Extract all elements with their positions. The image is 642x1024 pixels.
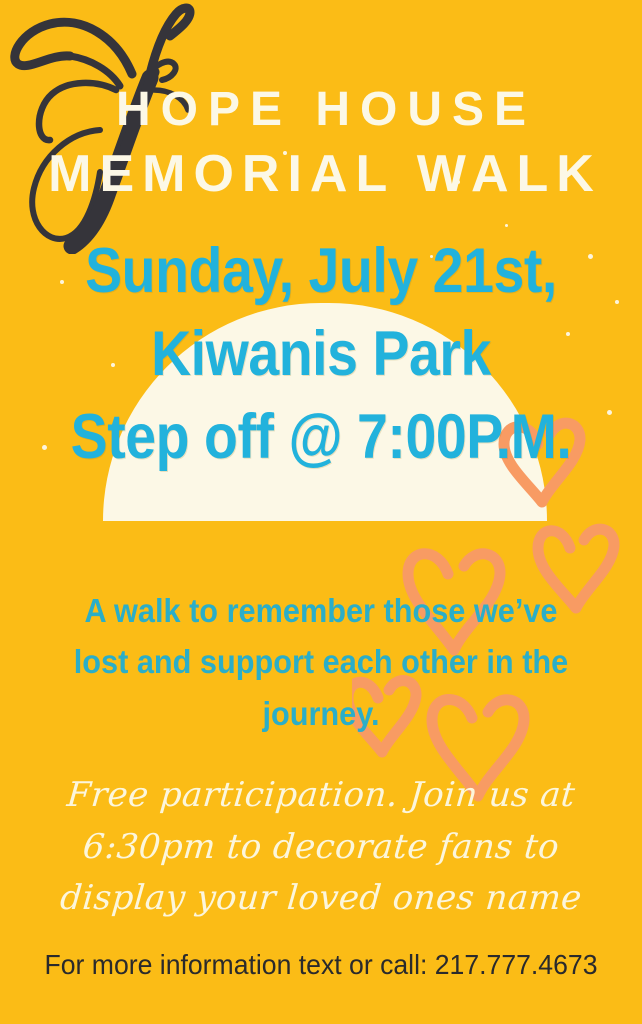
event-date: Sunday, July 21st,: [39, 237, 604, 305]
poster-canvas: HOPE HOUSE MEMORIAL WALK Sunday, July 21…: [0, 0, 642, 1024]
description-line-3: journey.: [45, 688, 597, 739]
description-line-2: lost and support each other in the: [45, 636, 597, 687]
event-description: A walk to remember those we’ve lost and …: [24, 585, 618, 739]
page-title: HOPE HOUSE MEMORIAL WALK: [0, 86, 642, 200]
contact-footer: For more information text or call: 217.7…: [0, 950, 642, 981]
participation-note: Free participation. Join us at 6:30pm to…: [20, 770, 622, 925]
event-headline: Sunday, July 21st, Kiwanis Park Step off…: [0, 237, 642, 471]
participation-line-3: display your loved ones name: [18, 873, 625, 925]
event-time: Step off @ 7:00P.M.: [39, 403, 604, 471]
participation-line-2: 6:30pm to decorate fans to: [18, 822, 625, 874]
description-line-1: A walk to remember those we’ve: [45, 585, 597, 636]
contact-text: For more information text or call: 217.7…: [16, 950, 626, 981]
participation-line-1: Free participation. Join us at: [18, 770, 625, 822]
title-line-1: HOPE HOUSE: [0, 86, 642, 134]
event-location: Kiwanis Park: [39, 320, 604, 388]
title-line-2: MEMORIAL WALK: [0, 148, 642, 200]
